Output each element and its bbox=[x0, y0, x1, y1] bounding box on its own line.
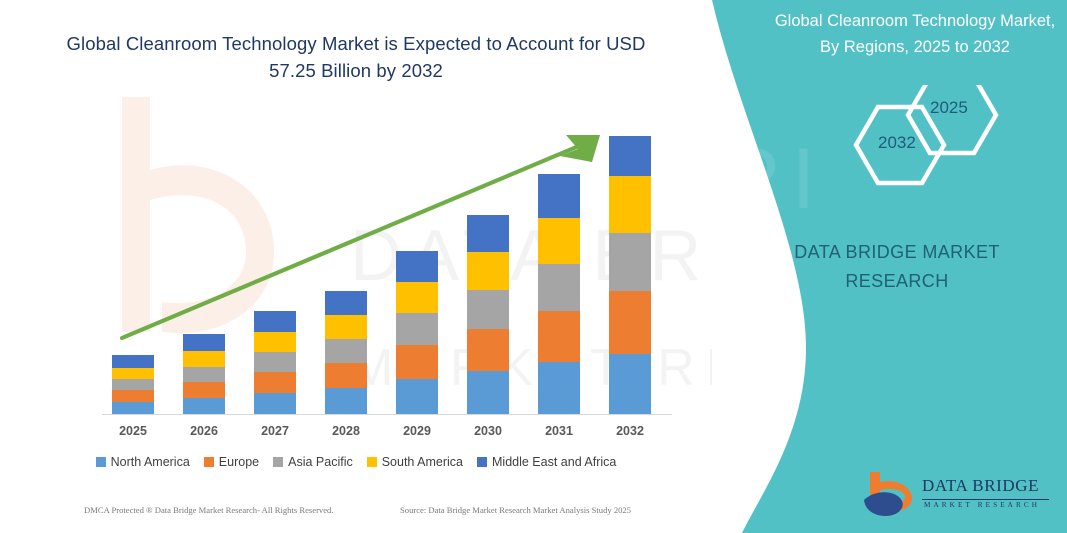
segment-north-america bbox=[325, 388, 367, 414]
side-panel-content: BRI RE Global Cleanroom Technology Marke… bbox=[712, 0, 1067, 533]
bar-2028 bbox=[325, 0, 367, 414]
chart-area: Global Cleanroom Technology Market is Ex… bbox=[0, 0, 712, 533]
legend-item-north-america[interactable]: North America bbox=[96, 455, 190, 469]
segment-middle-east-and-africa bbox=[254, 311, 296, 332]
segment-europe bbox=[112, 390, 154, 402]
plot-area bbox=[0, 0, 712, 470]
segment-south-america bbox=[254, 332, 296, 352]
bar-2031 bbox=[538, 0, 580, 414]
segment-south-america bbox=[112, 368, 154, 379]
footer: DMCA Protected ® Data Bridge Market Rese… bbox=[0, 505, 712, 525]
logo-divider bbox=[922, 499, 1049, 500]
segment-europe bbox=[538, 311, 580, 362]
segment-middle-east-and-africa bbox=[538, 174, 580, 218]
bar-2032 bbox=[609, 0, 651, 414]
x-label-2025: 2025 bbox=[103, 424, 163, 438]
hexagon-label-2025: 2025 bbox=[930, 98, 968, 118]
logo-text-sub: MARKET RESEARCH bbox=[924, 501, 1040, 509]
legend-label: Middle East and Africa bbox=[492, 455, 616, 469]
panel-title: Global Cleanroom Technology Market, By R… bbox=[770, 8, 1060, 60]
brand-name: DATA BRIDGE MARKET RESEARCH bbox=[752, 238, 1042, 296]
segment-asia-pacific bbox=[325, 339, 367, 363]
segment-asia-pacific bbox=[183, 367, 225, 382]
segment-south-america bbox=[467, 252, 509, 290]
segment-south-america bbox=[325, 315, 367, 339]
logo-mark-icon bbox=[862, 470, 918, 518]
segment-middle-east-and-africa bbox=[396, 251, 438, 282]
bar-2026 bbox=[183, 0, 225, 414]
legend-label: North America bbox=[111, 455, 190, 469]
legend-swatch-icon bbox=[273, 457, 283, 467]
bar-2029 bbox=[396, 0, 438, 414]
segment-south-america bbox=[183, 351, 225, 367]
hexagon-group: 2032 2025 bbox=[822, 85, 1012, 215]
infographic-root: Global Cleanroom Technology Market is Ex… bbox=[0, 0, 1067, 533]
segment-europe bbox=[396, 345, 438, 379]
segment-north-america bbox=[254, 393, 296, 414]
segment-europe bbox=[325, 363, 367, 388]
segment-asia-pacific bbox=[467, 290, 509, 329]
legend-item-middle-east-and-africa[interactable]: Middle East and Africa bbox=[477, 455, 616, 469]
segment-asia-pacific bbox=[112, 379, 154, 390]
segment-middle-east-and-africa bbox=[183, 334, 225, 351]
segment-europe bbox=[183, 382, 225, 398]
x-axis-line bbox=[102, 414, 672, 415]
segment-middle-east-and-africa bbox=[467, 215, 509, 252]
legend-swatch-icon bbox=[204, 457, 214, 467]
segment-asia-pacific bbox=[396, 313, 438, 345]
segment-north-america bbox=[467, 371, 509, 414]
x-label-2026: 2026 bbox=[174, 424, 234, 438]
segment-europe bbox=[609, 291, 651, 354]
legend-item-south-america[interactable]: South America bbox=[367, 455, 463, 469]
x-label-2028: 2028 bbox=[316, 424, 376, 438]
segment-asia-pacific bbox=[254, 352, 296, 372]
company-logo: DATA BRIDGE MARKET RESEARCH bbox=[862, 468, 1052, 526]
chart-legend: North America Europe Asia Pacific South … bbox=[0, 455, 712, 469]
legend-swatch-icon bbox=[96, 457, 106, 467]
x-label-2029: 2029 bbox=[387, 424, 447, 438]
legend-label: South America bbox=[382, 455, 463, 469]
segment-middle-east-and-africa bbox=[325, 291, 367, 315]
x-label-2030: 2030 bbox=[458, 424, 518, 438]
segment-north-america bbox=[183, 398, 225, 414]
legend-label: Europe bbox=[219, 455, 259, 469]
hexagon-2025-shape bbox=[908, 85, 996, 153]
segment-north-america bbox=[396, 379, 438, 414]
bar-2025 bbox=[112, 0, 154, 414]
segment-asia-pacific bbox=[538, 264, 580, 311]
x-label-2027: 2027 bbox=[245, 424, 305, 438]
logo-text-main: DATA BRIDGE bbox=[922, 476, 1039, 496]
legend-item-europe[interactable]: Europe bbox=[204, 455, 259, 469]
brand-line-1: DATA BRIDGE MARKET bbox=[752, 238, 1042, 267]
segment-middle-east-and-africa bbox=[609, 136, 651, 176]
segment-south-america bbox=[538, 218, 580, 264]
legend-label: Asia Pacific bbox=[288, 455, 353, 469]
segment-asia-pacific bbox=[609, 233, 651, 291]
segment-north-america bbox=[538, 362, 580, 414]
segment-south-america bbox=[396, 282, 438, 313]
brand-line-2: RESEARCH bbox=[752, 267, 1042, 296]
legend-swatch-icon bbox=[367, 457, 377, 467]
x-axis-labels: 2025 2026 2027 2028 2029 2030 2031 2032 bbox=[0, 424, 712, 446]
hexagon-label-2032: 2032 bbox=[878, 133, 916, 153]
legend-swatch-icon bbox=[477, 457, 487, 467]
bar-2030 bbox=[467, 0, 509, 414]
segment-north-america bbox=[112, 402, 154, 414]
segment-north-america bbox=[609, 354, 651, 414]
segment-europe bbox=[254, 372, 296, 393]
footer-copyright: DMCA Protected ® Data Bridge Market Rese… bbox=[84, 505, 334, 515]
segment-middle-east-and-africa bbox=[112, 355, 154, 368]
bar-2027 bbox=[254, 0, 296, 414]
footer-source: Source: Data Bridge Market Research Mark… bbox=[400, 505, 631, 515]
legend-item-asia-pacific[interactable]: Asia Pacific bbox=[273, 455, 353, 469]
segment-south-america bbox=[609, 176, 651, 233]
segment-europe bbox=[467, 329, 509, 371]
x-label-2031: 2031 bbox=[529, 424, 589, 438]
x-label-2032: 2032 bbox=[600, 424, 660, 438]
